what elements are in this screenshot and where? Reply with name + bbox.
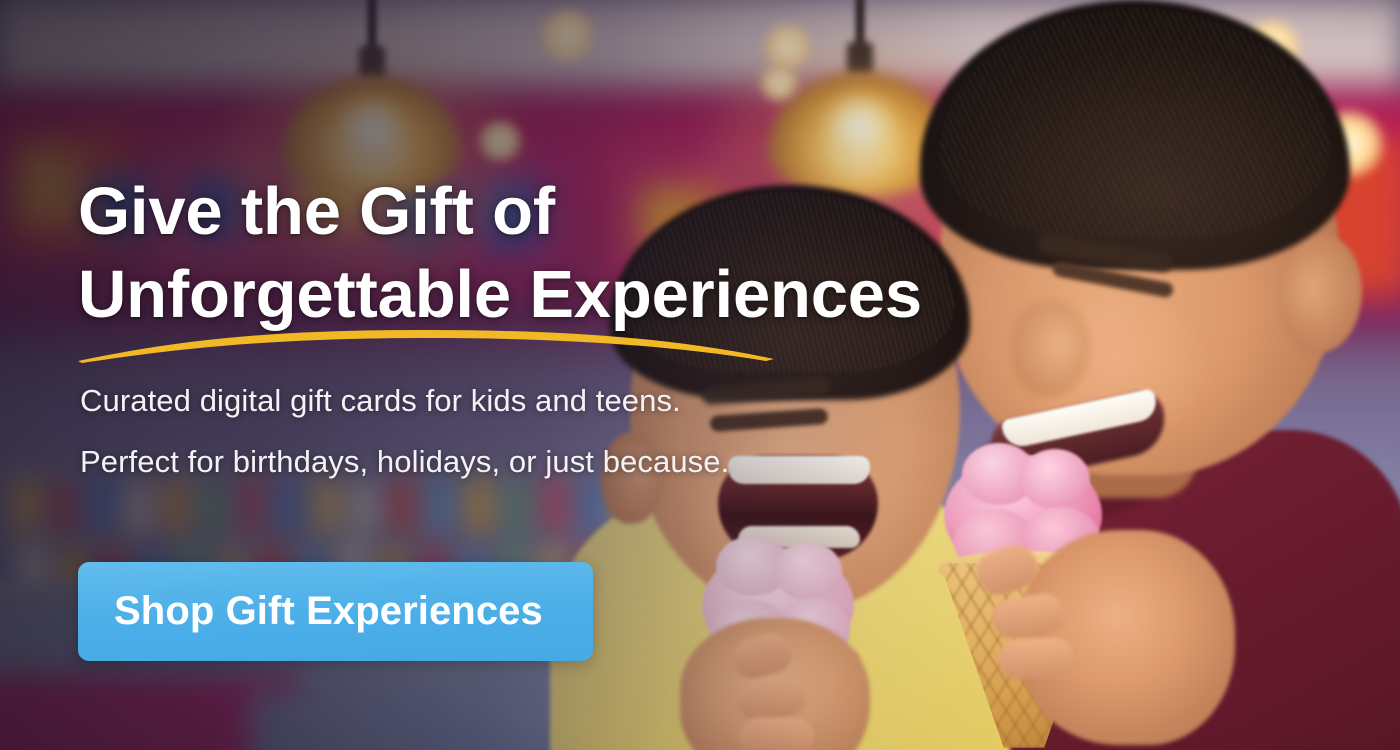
hero-banner: Give the Gift of Unforgettable Experienc… bbox=[0, 0, 1400, 750]
subtitle-line-2: Perfect for birthdays, holidays, or just… bbox=[80, 444, 729, 480]
shop-gift-experiences-button[interactable]: Shop Gift Experiences bbox=[78, 562, 593, 661]
headline-line-1: Give the Gift of bbox=[78, 170, 858, 253]
hero-content: Give the Gift of Unforgettable Experienc… bbox=[78, 0, 838, 750]
page-title: Give the Gift of Unforgettable Experienc… bbox=[78, 170, 858, 336]
headline-line-2: Unforgettable Experiences bbox=[78, 253, 858, 336]
gold-swoosh-underline bbox=[76, 330, 776, 374]
subtitle-line-1: Curated digital gift cards for kids and … bbox=[80, 383, 681, 419]
